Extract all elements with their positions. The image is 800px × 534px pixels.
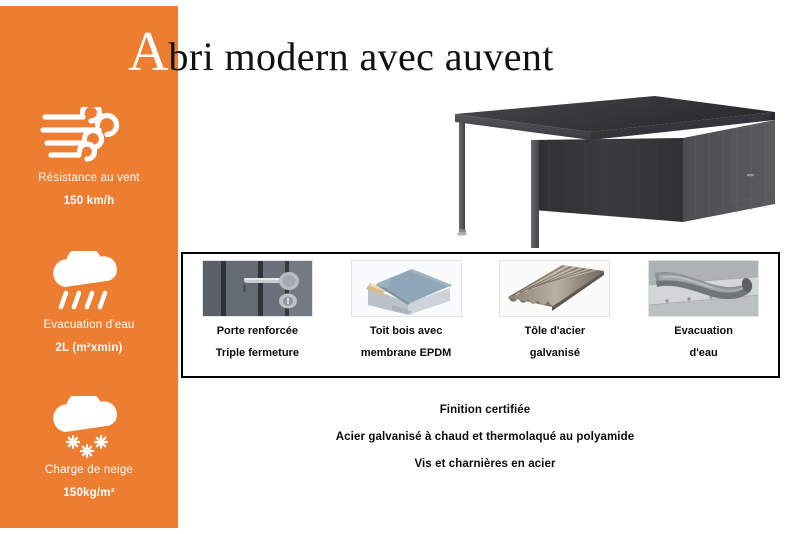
wind-icon: [0, 104, 178, 166]
poster-page: Résistance au vent 150 km/h Evacuation d…: [0, 0, 800, 534]
finish-line-1: Finition certifiée: [190, 404, 780, 416]
feature-item-door: Porte renforcée Triple fermeture: [183, 254, 332, 376]
feature-label-steel-line1: Tôle d'acier: [525, 325, 586, 337]
snow-cloud-icon: [0, 396, 178, 458]
spec-item-wind: Résistance au vent 150 km/h: [0, 104, 178, 207]
feature-label-drain: Evacuation d'eau: [674, 326, 733, 359]
spec-value-water: 2L (m²xmin): [0, 342, 178, 354]
feature-label-steel: Tôle d'acier galvanisé: [525, 326, 586, 359]
feature-item-steel: Tôle d'acier galvanisé: [481, 254, 630, 376]
feature-label-roof-line2: membrane EPDM: [361, 348, 451, 360]
epdm-roof-image: [351, 260, 462, 317]
finish-line-2: Acier galvanisé à chaud et thermolaqué a…: [190, 431, 780, 443]
page-title: A bri modern avec auvent: [128, 24, 554, 86]
feature-label-roof: Toit bois avec membrane EPDM: [361, 326, 451, 359]
feature-label-steel-line2: galvanisé: [525, 348, 586, 360]
title-initial-letter: A: [128, 24, 168, 80]
features-panel: Porte renforcée Triple fermeture: [181, 252, 780, 378]
feature-label-roof-line1: Toit bois avec: [370, 325, 443, 337]
spec-item-snow: Charge de neige 150kg/m²: [0, 396, 178, 499]
spec-title-water: Evacuation d'eau: [0, 319, 178, 331]
feature-label-door-line1: Porte renforcée: [217, 325, 298, 337]
finish-description: Finition certifiée Acier galvanisé à cha…: [190, 404, 780, 470]
feature-label-drain-line1: Evacuation: [674, 325, 733, 337]
feature-item-drain: Evacuation d'eau: [629, 254, 778, 376]
spec-value-wind: 150 km/h: [0, 195, 178, 207]
feature-label-door-line2: Triple fermeture: [216, 348, 299, 360]
spec-title-snow: Charge de neige: [0, 464, 178, 476]
rain-cloud-icon: [0, 251, 178, 313]
feature-label-drain-line2: d'eau: [674, 348, 733, 360]
feature-item-roof: Toit bois avec membrane EPDM: [332, 254, 481, 376]
shed-with-canopy-image: [415, 82, 787, 248]
finish-line-3: Vis et charnières en acier: [190, 458, 780, 470]
water-drain-image: [648, 260, 759, 317]
title-remainder: bri modern avec auvent: [168, 37, 553, 77]
feature-label-door: Porte renforcée Triple fermeture: [216, 326, 299, 359]
spec-item-water: Evacuation d'eau 2L (m²xmin): [0, 251, 178, 354]
corrugated-steel-image: [499, 260, 610, 317]
spec-title-wind: Résistance au vent: [0, 172, 178, 184]
spec-value-snow: 150kg/m²: [0, 487, 178, 499]
reinforced-door-image: [202, 260, 313, 317]
